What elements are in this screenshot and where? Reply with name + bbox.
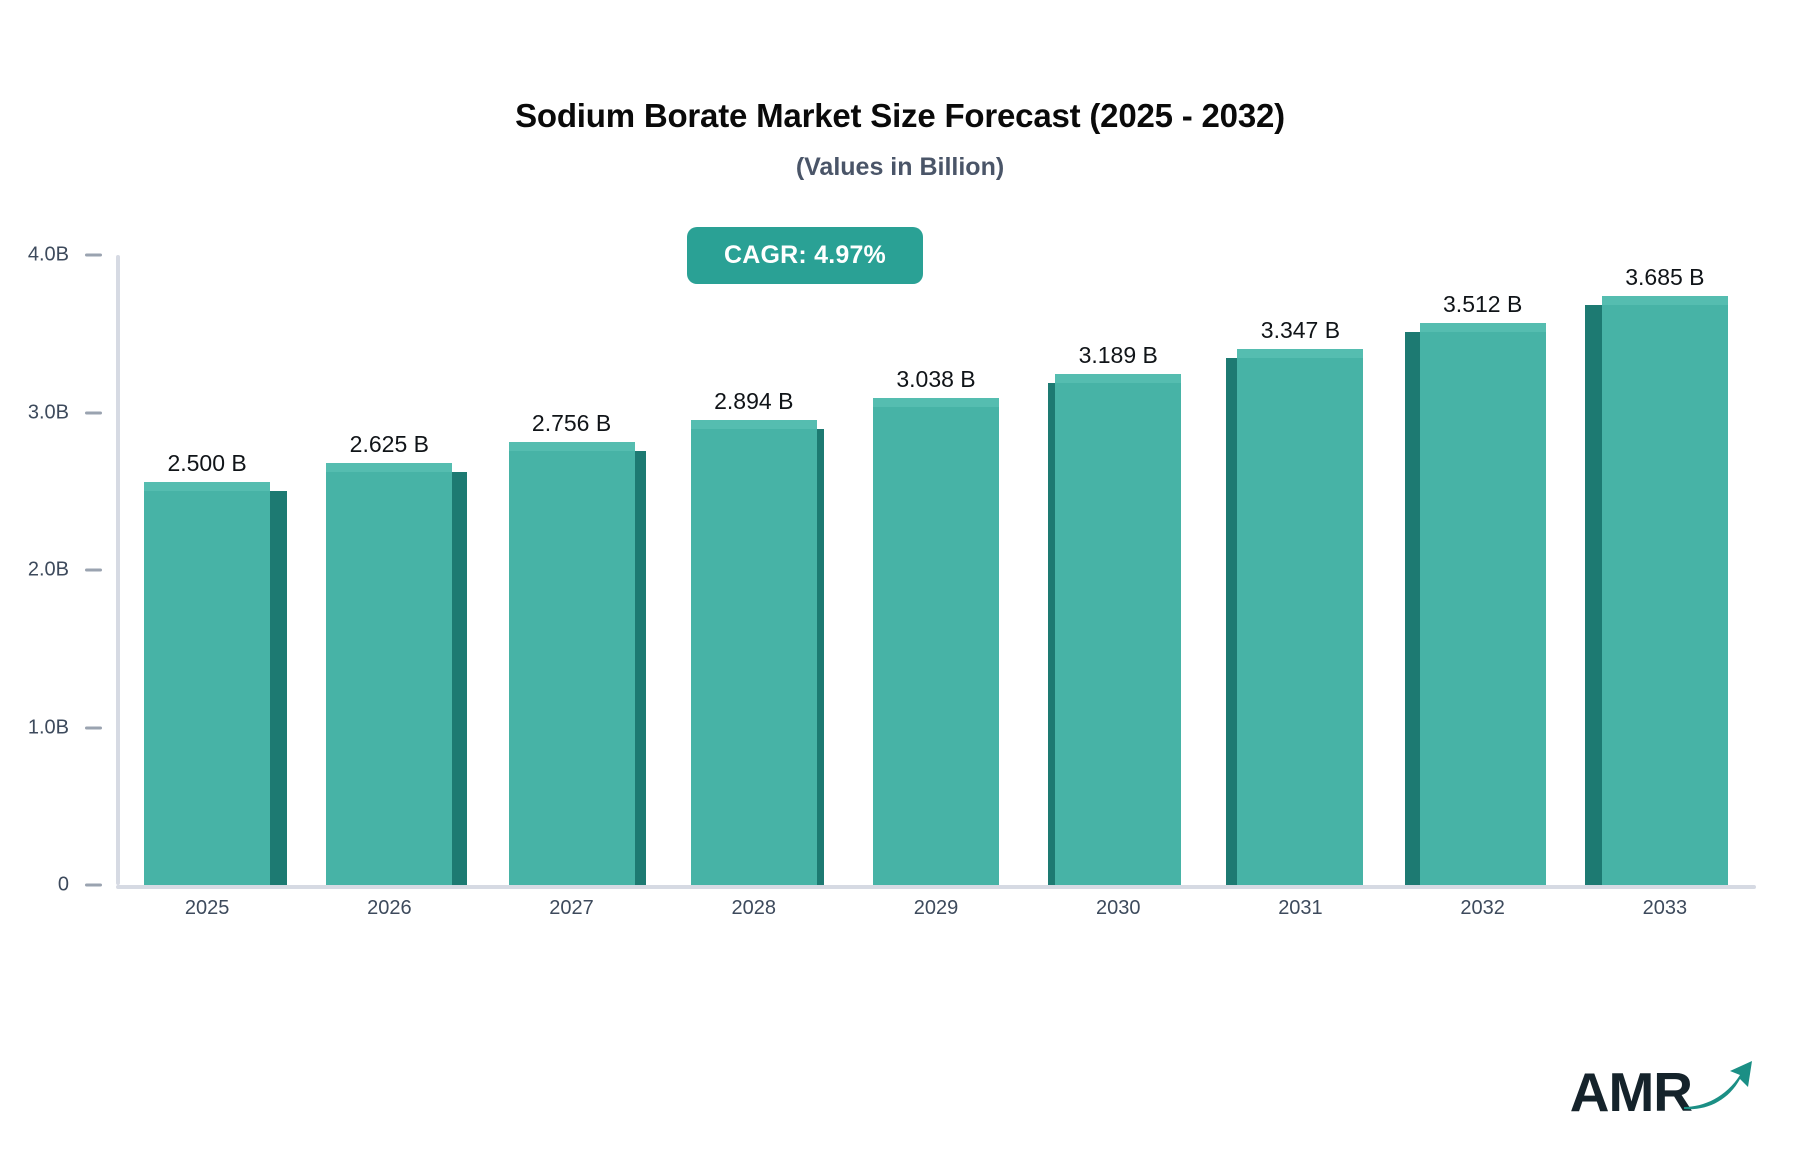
bar-side-face (817, 429, 825, 885)
bar-value-label: 2.756 B (532, 410, 611, 437)
bar-top-face (144, 482, 270, 491)
bar: 3.038 B (873, 407, 999, 885)
bar: 3.685 B (1602, 305, 1728, 885)
bar-front-face (509, 451, 635, 885)
bar-value-label: 2.500 B (167, 450, 246, 477)
plot-area: 4.0B3.0B2.0B1.0B0 2.500 B2.625 B2.756 B2… (116, 255, 1756, 885)
bar-column: 3.685 B (1602, 305, 1728, 885)
y-axis-tick-label: 0 (58, 874, 69, 897)
x-axis-tick-label: 2027 (480, 897, 662, 920)
bar: 2.625 B (326, 472, 452, 885)
bar-front-face (1055, 383, 1181, 885)
bar-side-face (452, 472, 467, 885)
bar-front-face (326, 472, 452, 885)
bar: 2.500 B (144, 491, 270, 885)
x-axis-tick-label: 2029 (845, 897, 1027, 920)
bar-top-face (1055, 374, 1181, 383)
x-axis-tick-label: 2030 (1027, 897, 1209, 920)
chart-subtitle: (Values in Billion) (0, 153, 1800, 182)
y-axis-tick-label: 2.0B (28, 559, 69, 582)
bar-side-face (1585, 305, 1602, 885)
bar-column: 3.347 B (1237, 358, 1363, 885)
bar-top-face (691, 420, 817, 429)
y-axis-tick: 2.0B (28, 559, 116, 582)
trend-arrow-up-icon (1682, 1057, 1756, 1118)
bar-series: 2.500 B2.625 B2.756 B2.894 B3.038 B3.189… (116, 255, 1756, 885)
y-axis-tick-mark (85, 411, 102, 414)
bar-side-face (1405, 332, 1420, 885)
bar-top-face (509, 442, 635, 451)
logo-wordmark: AMR (1570, 1065, 1692, 1120)
bar: 2.894 B (691, 429, 817, 885)
bar-top-face (1237, 349, 1363, 358)
bar-column: 2.756 B (509, 451, 635, 885)
bar: 3.512 B (1420, 332, 1546, 885)
x-axis-tick-label: 2032 (1392, 897, 1574, 920)
x-axis-tick-label: 2031 (1209, 897, 1391, 920)
y-axis-tick: 4.0B (28, 244, 116, 267)
bar-column: 3.189 B (1055, 383, 1181, 885)
x-axis-tick-label: 2028 (663, 897, 845, 920)
bar-front-face (144, 491, 270, 885)
y-axis-tick-label: 4.0B (28, 244, 69, 267)
bar-column: 3.512 B (1420, 332, 1546, 885)
bar-value-label: 3.512 B (1443, 291, 1522, 318)
bar-top-face (873, 398, 999, 407)
bar-front-face (873, 407, 999, 885)
bar-top-face (326, 463, 452, 472)
bar-side-face (1048, 383, 1056, 885)
bar-top-face (1420, 323, 1546, 332)
y-axis-tick-mark (85, 569, 102, 572)
bar-column: 2.500 B (144, 491, 270, 885)
bar-value-label: 2.894 B (714, 388, 793, 415)
bar: 3.189 B (1055, 383, 1181, 885)
bar-side-face (1226, 358, 1237, 885)
bar-column: 3.038 B (873, 407, 999, 885)
bar-value-label: 3.189 B (1079, 342, 1158, 369)
bar-value-label: 3.347 B (1261, 317, 1340, 344)
y-axis-tick: 3.0B (28, 401, 116, 424)
y-axis-tick-mark (85, 254, 102, 257)
y-axis-tick-label: 3.0B (28, 401, 69, 424)
bar: 3.347 B (1237, 358, 1363, 885)
y-axis-tick: 0 (58, 874, 116, 897)
bar-column: 2.894 B (691, 429, 817, 885)
x-axis-tick-label: 2033 (1574, 897, 1756, 920)
chart-title-block: Sodium Borate Market Size Forecast (2025… (0, 96, 1800, 182)
x-axis-tick-label: 2025 (116, 897, 298, 920)
bar-value-label: 3.685 B (1625, 264, 1704, 291)
amr-logo: AMR (1570, 1050, 1756, 1120)
y-axis-tick-mark (85, 726, 102, 729)
bar: 2.756 B (509, 451, 635, 885)
bar-front-face (691, 429, 817, 885)
bar-value-label: 2.625 B (350, 431, 429, 458)
chart-canvas: Sodium Borate Market Size Forecast (2025… (0, 0, 1800, 1156)
y-axis-tick: 1.0B (28, 716, 116, 739)
bar-top-face (1602, 296, 1728, 305)
bar-value-label: 3.038 B (896, 366, 975, 393)
bar-front-face (1602, 305, 1728, 885)
bar-side-face (635, 451, 646, 885)
y-axis-tick-label: 1.0B (28, 716, 69, 739)
x-axis-tick-label: 2026 (298, 897, 480, 920)
bar-side-face (270, 491, 287, 885)
bar-front-face (1237, 358, 1363, 885)
page-title: Sodium Borate Market Size Forecast (2025… (0, 96, 1800, 136)
x-axis-line (116, 885, 1756, 889)
bar-column: 2.625 B (326, 472, 452, 885)
y-axis-tick-mark (85, 884, 102, 887)
bar-front-face (1420, 332, 1546, 885)
